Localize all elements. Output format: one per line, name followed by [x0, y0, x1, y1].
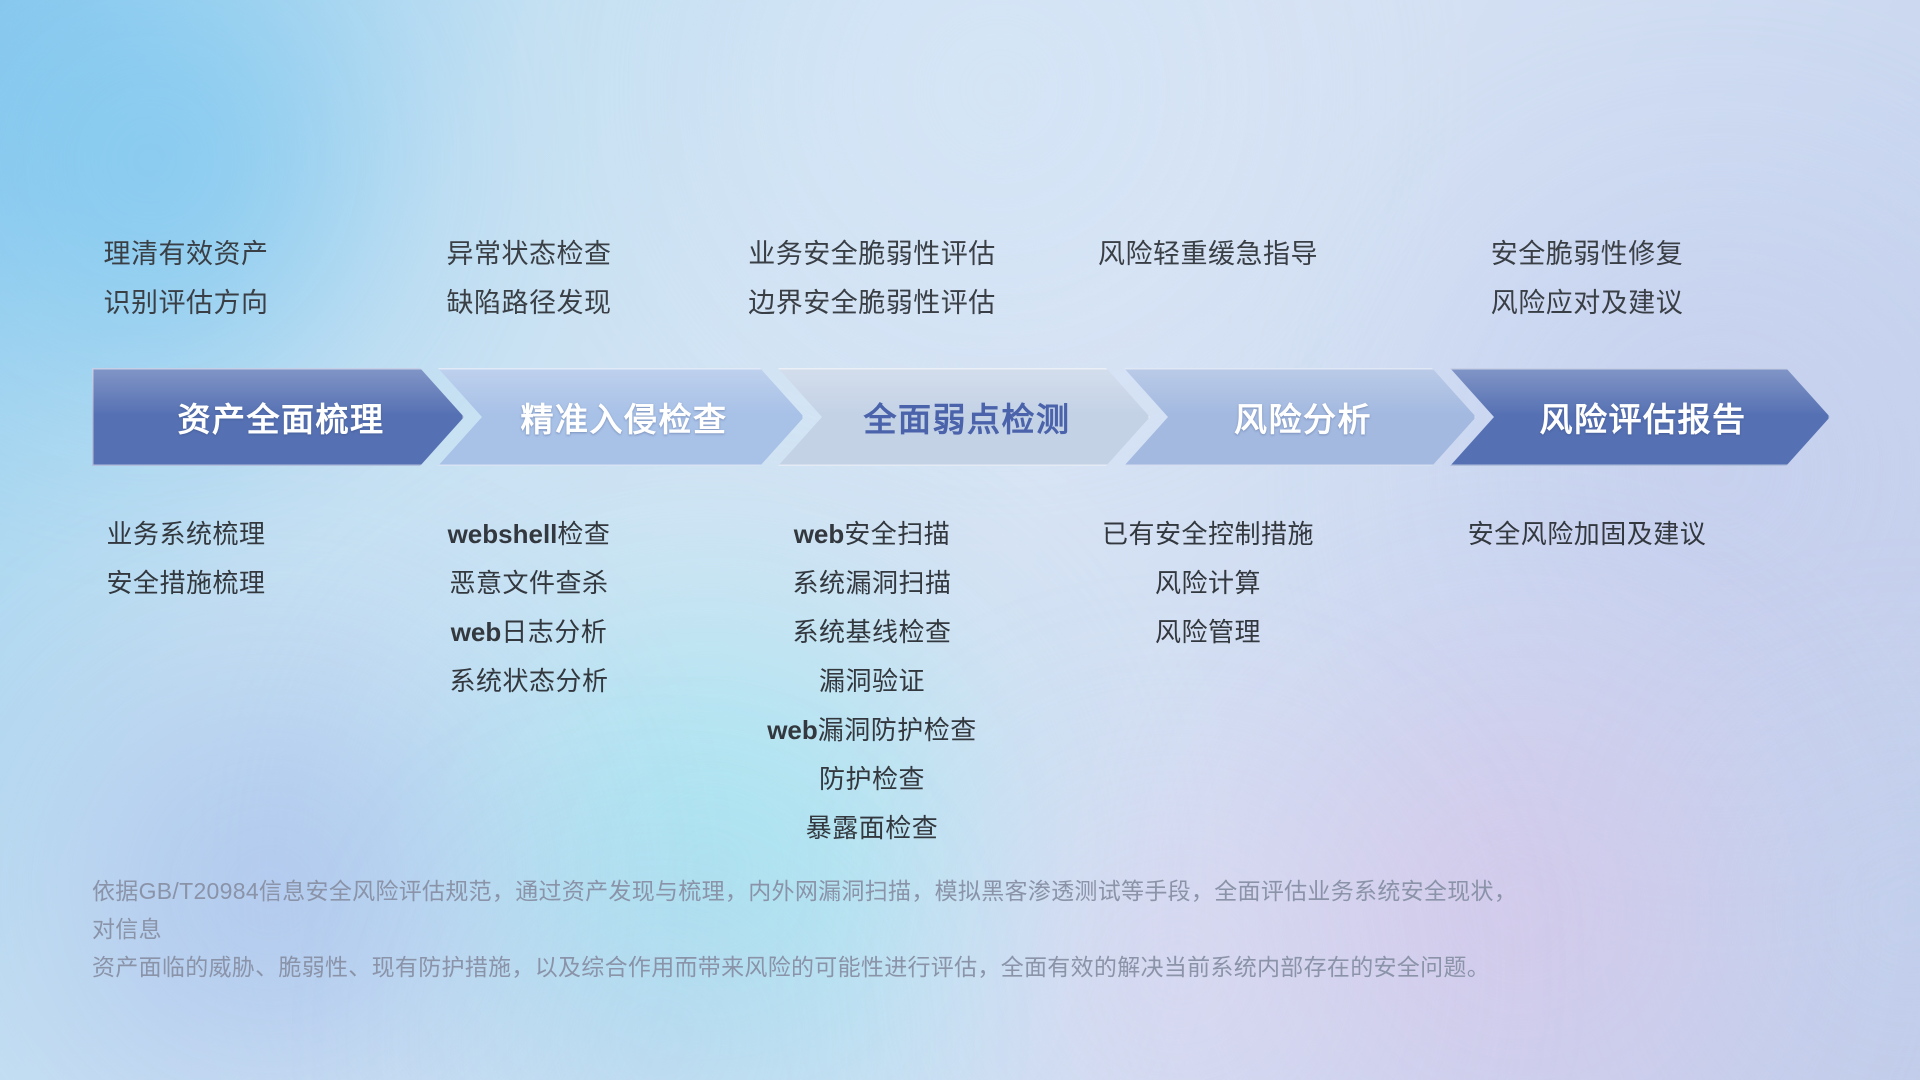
top-outcomes-row: 理清有效资产识别评估方向异常状态检查缺陷路径发现业务安全脆弱性评估边界安全脆弱性… [0, 230, 1920, 328]
detail-item-text: 系统漏洞扫描 [792, 568, 951, 598]
process-diagram: 理清有效资产识别评估方向异常状态检查缺陷路径发现业务安全脆弱性评估边界安全脆弱性… [0, 0, 1920, 1080]
detail-item-text: 安全措施梳理 [106, 568, 265, 598]
footer-line-1: 依据GB/T20984信息安全风险评估规范，通过资产发现与梳理，内外网漏洞扫描，… [92, 872, 1522, 948]
top-outcome-line: 缺陷路径发现 [447, 279, 612, 328]
detail-item: 安全措施梳理 [106, 559, 265, 608]
detail-item: web漏洞防护检查 [767, 706, 977, 755]
detail-item-keyword: web [767, 715, 818, 745]
detail-group-risk-report: 安全风险加固及建议 [1358, 510, 1816, 853]
top-outcome-line: 安全脆弱性修复 [1491, 230, 1684, 279]
stage-chevron-intrusion-check[interactable]: 精准入侵检查 [438, 368, 804, 466]
detail-group-risk-analysis: 已有安全控制措施风险计算风险管理 [1032, 510, 1384, 853]
stage-chevron-risk-report[interactable]: 风险评估报告 [1450, 368, 1830, 466]
detail-item-text: 安全扫描 [844, 519, 950, 549]
detail-item-keyword: web [794, 519, 845, 549]
detail-item: 风险管理 [1155, 608, 1261, 657]
detail-group-weakness-detection: web安全扫描系统漏洞扫描系统基线检查漏洞验证web漏洞防护检查防护检查暴露面检… [686, 510, 1058, 853]
detail-item: web日志分析 [451, 608, 608, 657]
detail-item: 漏洞验证 [819, 657, 925, 706]
top-outcome-group-weakness-detection: 业务安全脆弱性评估边界安全脆弱性评估 [686, 230, 1058, 328]
stage-chevron-risk-analysis[interactable]: 风险分析 [1124, 368, 1476, 466]
detail-item: 风险计算 [1155, 559, 1261, 608]
top-outcome-line: 边界安全脆弱性评估 [748, 279, 996, 328]
top-outcome-line: 识别评估方向 [104, 279, 269, 328]
detail-group-intrusion-check: webshell检查恶意文件查杀web日志分析系统状态分析 [346, 510, 712, 853]
detail-item: 暴露面检查 [806, 804, 939, 853]
detail-item: 系统状态分析 [449, 657, 608, 706]
detail-item-text: 系统状态分析 [449, 666, 608, 696]
detail-item: 业务系统梳理 [106, 510, 265, 559]
stage-chevron-weakness-detection[interactable]: 全面弱点检测 [778, 368, 1150, 466]
detail-item: 防护检查 [819, 755, 925, 804]
detail-item-text: 风险计算 [1155, 568, 1261, 598]
stage-label: 风险分析 [1228, 393, 1372, 441]
footer-description: 依据GB/T20984信息安全风险评估规范，通过资产发现与梳理，内外网漏洞扫描，… [92, 872, 1522, 986]
detail-item: web安全扫描 [794, 510, 951, 559]
detail-item-text: 日志分析 [501, 617, 607, 647]
top-outcome-line: 理清有效资产 [104, 230, 269, 279]
detail-item-text: 业务系统梳理 [106, 519, 265, 549]
stage-chevron-asset-inventory[interactable]: 资产全面梳理 [92, 368, 464, 466]
detail-item-text: 防护检查 [819, 764, 925, 794]
top-outcome-group-risk-analysis: 风险轻重缓急指导 [1032, 230, 1384, 328]
detail-item-text: 系统基线检查 [792, 617, 951, 647]
detail-item-text: 安全风险加固及建议 [1468, 519, 1707, 549]
top-outcome-line: 风险应对及建议 [1491, 279, 1684, 328]
detail-item-text: 恶意文件查杀 [449, 568, 608, 598]
detail-item-text: 风险管理 [1155, 617, 1261, 647]
detail-group-asset-inventory: 业务系统梳理安全措施梳理 [0, 510, 372, 853]
detail-item-keyword: webshell [448, 519, 558, 549]
top-outcome-group-asset-inventory: 理清有效资产识别评估方向 [0, 230, 372, 328]
stage-label: 全面弱点检测 [858, 393, 1071, 441]
detail-item-keyword: web [451, 617, 502, 647]
top-outcome-line: 业务安全脆弱性评估 [748, 230, 996, 279]
footer-line-2: 资产面临的威胁、脆弱性、现有防护措施，以及综合作用而带来风险的可能性进行评估，全… [92, 948, 1522, 986]
stage-chevron-banner: 资产全面梳理精准入侵检查全面弱点检测风险分析风险评估报告 [92, 368, 1852, 466]
stage-label: 精准入侵检查 [515, 393, 728, 441]
stage-label: 资产全面梳理 [172, 393, 385, 441]
detail-item-text: 漏洞防护检查 [818, 715, 977, 745]
detail-item-text: 检查 [557, 519, 610, 549]
detail-item: 安全风险加固及建议 [1468, 510, 1707, 559]
top-outcome-line: 风险轻重缓急指导 [1098, 230, 1318, 279]
top-outcome-group-risk-report: 安全脆弱性修复风险应对及建议 [1358, 230, 1816, 328]
top-outcome-line: 异常状态检查 [447, 230, 612, 279]
stage-label: 风险评估报告 [1534, 393, 1747, 441]
detail-item-text: 暴露面检查 [806, 813, 939, 843]
detail-item-text: 已有安全控制措施 [1102, 519, 1314, 549]
bottom-details-row: 业务系统梳理安全措施梳理webshell检查恶意文件查杀web日志分析系统状态分… [0, 510, 1920, 853]
detail-item-text: 漏洞验证 [819, 666, 925, 696]
detail-item: 系统基线检查 [792, 608, 951, 657]
detail-item: 系统漏洞扫描 [792, 559, 951, 608]
detail-item: 已有安全控制措施 [1102, 510, 1314, 559]
detail-item: webshell检查 [448, 510, 611, 559]
top-outcome-group-intrusion-check: 异常状态检查缺陷路径发现 [346, 230, 712, 328]
detail-item: 恶意文件查杀 [449, 559, 608, 608]
